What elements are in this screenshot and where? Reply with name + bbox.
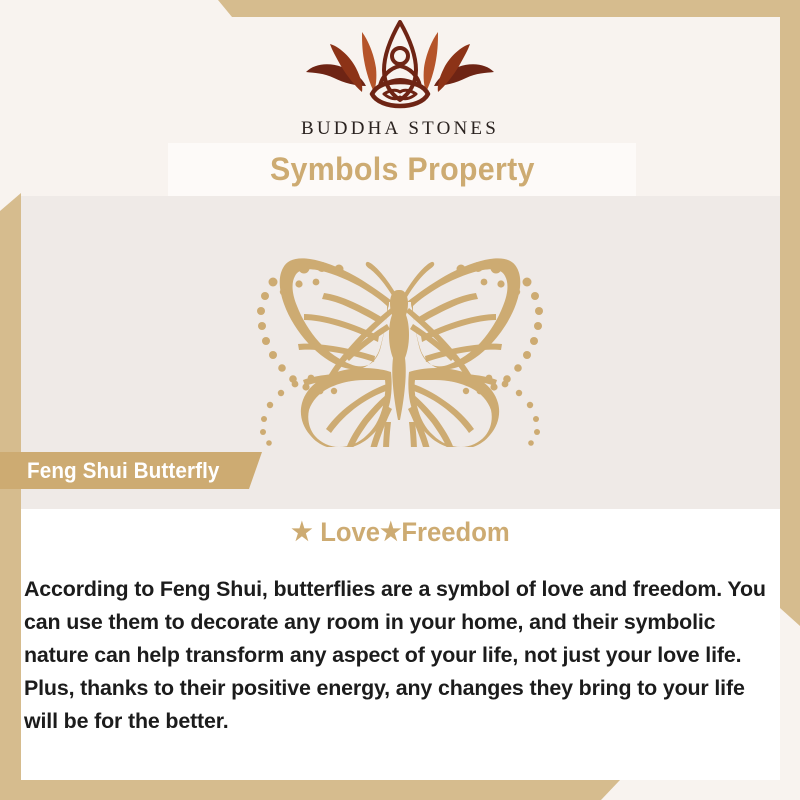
brand-name: BUDDHA STONES	[301, 118, 499, 140]
star-icon-left: ★	[291, 520, 312, 545]
frame-band-top	[210, 0, 800, 17]
butterfly-icon	[215, 232, 585, 447]
frame-band-bottom	[0, 780, 620, 800]
subtitle-word-love: Love	[320, 517, 380, 548]
ribbon-label: Feng Shui Butterfly	[27, 458, 220, 484]
brand-logo: BUDDHA STONES	[0, 20, 800, 140]
description-paragraph: According to Feng Shui, butterflies are …	[24, 573, 780, 738]
page-title: Symbols Property	[270, 151, 535, 188]
lotus-meditation-figure-icon	[300, 20, 500, 115]
page-title-box: Symbols Property	[168, 143, 636, 196]
feng-shui-ribbon: Feng Shui Butterfly	[0, 452, 262, 489]
subtitle: ★ Love ★ Freedom	[40, 512, 761, 552]
hero-illustration	[0, 232, 800, 447]
subtitle-word-freedom: Freedom	[401, 517, 509, 548]
star-icon-mid: ★	[380, 520, 401, 545]
